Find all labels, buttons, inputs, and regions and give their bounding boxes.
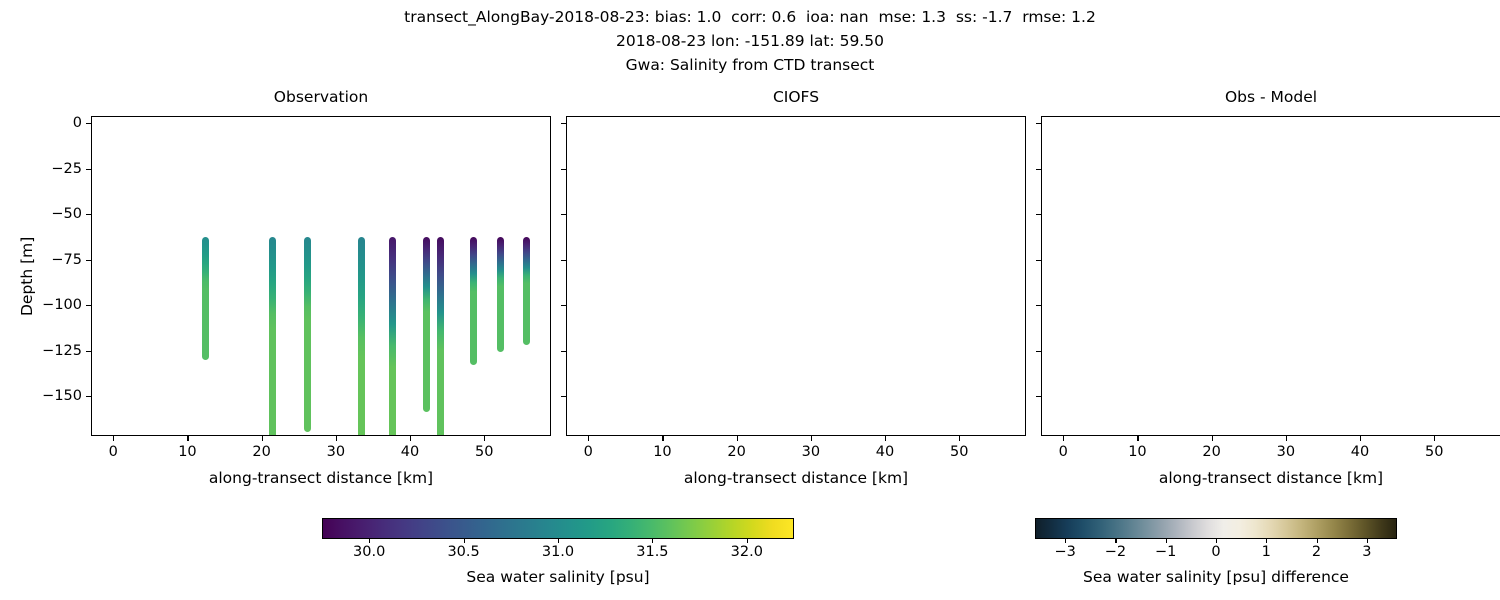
y-tick-mark [86, 214, 91, 215]
x-tick-mark [885, 436, 886, 441]
x-tick-label: 0 [584, 444, 593, 460]
colorbar-tick-label: −1 [1155, 544, 1176, 560]
colorbar-tick-mark [1367, 539, 1368, 543]
x-tick-label: 20 [727, 444, 745, 460]
plot-panel-ciofs [566, 116, 1026, 436]
profile-observation-5 [423, 237, 430, 412]
y-tick-mark [1036, 260, 1041, 261]
y-tick-mark [561, 305, 566, 306]
y-tick-mark [86, 260, 91, 261]
y-tick-label: −75 [51, 252, 82, 268]
profile-observation-2 [304, 237, 311, 432]
y-axis-label: Depth [m] [18, 237, 36, 316]
x-tick-mark [336, 436, 337, 441]
x-tick-label: 40 [1351, 444, 1369, 460]
colorbar-tick-mark [1317, 539, 1318, 543]
x-tick-mark [1434, 436, 1435, 441]
y-tick-mark [86, 305, 91, 306]
colorbar-tick-label: −2 [1105, 544, 1126, 560]
colorbar-label-salinity: Sea water salinity [psu] [262, 568, 854, 586]
y-tick-mark [561, 396, 566, 397]
x-tick-label: 10 [653, 444, 671, 460]
figure-canvas: transect_AlongBay-2018-08-23: bias: 1.0 … [0, 0, 1500, 600]
profile-observation-8 [497, 237, 504, 352]
profile-observation-3 [358, 237, 365, 436]
colorbar-tick-label: 31.0 [542, 544, 574, 560]
y-tick-mark [1036, 123, 1041, 124]
plot-panel-observation [91, 116, 551, 436]
x-tick-mark [187, 436, 188, 441]
y-tick-label: −25 [51, 161, 82, 177]
colorbar-tick-mark [464, 539, 465, 543]
colorbar-label-salinity-difference: Sea water salinity [psu] difference [975, 568, 1457, 586]
colorbar-tick-mark [747, 539, 748, 543]
x-tick-mark [1063, 436, 1064, 441]
panel-title-obs-model: Obs - Model [1041, 88, 1500, 106]
colorbar-tick-label: 30.5 [447, 544, 479, 560]
x-tick-label: 30 [327, 444, 345, 460]
panel-title-observation: Observation [91, 88, 551, 106]
colorbar-tick-mark [1065, 539, 1066, 543]
x-tick-mark [737, 436, 738, 441]
x-tick-label: 50 [1425, 444, 1443, 460]
colorbar-tick-label: 32.0 [731, 544, 763, 560]
y-tick-mark [86, 396, 91, 397]
y-tick-mark [561, 214, 566, 215]
figure-suptitle-description: Gwa: Salinity from CTD transect [0, 56, 1500, 74]
x-tick-label: 10 [178, 444, 196, 460]
x-tick-label: 0 [1059, 444, 1068, 460]
x-tick-mark [410, 436, 411, 441]
colorbar-tick-label: 31.5 [636, 544, 668, 560]
colorbar-tick-label: −3 [1054, 544, 1075, 560]
colorbar-tick-label: 2 [1312, 544, 1321, 560]
colorbar-tick-label: 30.0 [353, 544, 385, 560]
colorbar-salinity-difference [1035, 518, 1397, 539]
x-tick-label: 40 [876, 444, 894, 460]
y-tick-mark [86, 169, 91, 170]
x-tick-label: 20 [252, 444, 270, 460]
profile-observation-9 [523, 237, 530, 345]
colorbar-salinity [322, 518, 794, 539]
y-tick-label: −150 [42, 388, 82, 404]
profile-observation-4 [389, 237, 396, 436]
colorbar-tick-mark [1115, 539, 1116, 543]
profile-observation-1 [269, 237, 276, 436]
colorbar-tick-mark [369, 539, 370, 543]
y-tick-label: −50 [51, 206, 82, 222]
y-tick-mark [86, 351, 91, 352]
x-tick-mark [662, 436, 663, 441]
x-tick-mark [588, 436, 589, 441]
x-tick-mark [484, 436, 485, 441]
colorbar-tick-mark [1216, 539, 1217, 543]
y-tick-mark [561, 351, 566, 352]
x-tick-label: 10 [1128, 444, 1146, 460]
profile-observation-7 [470, 237, 477, 365]
x-tick-mark [811, 436, 812, 441]
profile-observation-6 [437, 237, 444, 436]
y-tick-label: −125 [42, 343, 82, 359]
x-tick-label: 50 [950, 444, 968, 460]
y-tick-mark [1036, 351, 1041, 352]
x-tick-mark [1360, 436, 1361, 441]
x-tick-label: 0 [109, 444, 118, 460]
y-tick-mark [1036, 214, 1041, 215]
x-tick-label: 50 [475, 444, 493, 460]
y-tick-label: 0 [73, 115, 82, 131]
colorbar-tick-mark [558, 539, 559, 543]
x-axis-label: along-transect distance [km] [91, 469, 551, 487]
x-tick-mark [262, 436, 263, 441]
colorbar-tick-label: 0 [1211, 544, 1220, 560]
colorbar-tick-label: 3 [1362, 544, 1371, 560]
x-axis-label: along-transect distance [km] [1041, 469, 1500, 487]
colorbar-tick-mark [652, 539, 653, 543]
colorbar-tick-mark [1266, 539, 1267, 543]
y-tick-mark [561, 260, 566, 261]
colorbar-tick-label: 1 [1262, 544, 1271, 560]
x-tick-mark [113, 436, 114, 441]
y-tick-mark [561, 123, 566, 124]
x-tick-mark [1212, 436, 1213, 441]
colorbar-tick-mark [1166, 539, 1167, 543]
figure-suptitle-stats: transect_AlongBay-2018-08-23: bias: 1.0 … [0, 8, 1500, 26]
figure-suptitle-location: 2018-08-23 lon: -151.89 lat: 59.50 [0, 32, 1500, 50]
x-axis-label: along-transect distance [km] [566, 469, 1026, 487]
y-tick-mark [86, 123, 91, 124]
x-tick-label: 20 [1202, 444, 1220, 460]
y-tick-mark [1036, 396, 1041, 397]
plot-panel-obs-model [1041, 116, 1500, 436]
x-tick-label: 40 [401, 444, 419, 460]
panel-title-ciofs: CIOFS [566, 88, 1026, 106]
y-tick-mark [561, 169, 566, 170]
profile-observation-0 [202, 237, 209, 359]
y-tick-mark [1036, 305, 1041, 306]
x-tick-label: 30 [802, 444, 820, 460]
x-tick-mark [959, 436, 960, 441]
x-tick-mark [1137, 436, 1138, 441]
y-tick-mark [1036, 169, 1041, 170]
x-tick-mark [1286, 436, 1287, 441]
x-tick-label: 30 [1277, 444, 1295, 460]
y-tick-label: −100 [42, 297, 82, 313]
